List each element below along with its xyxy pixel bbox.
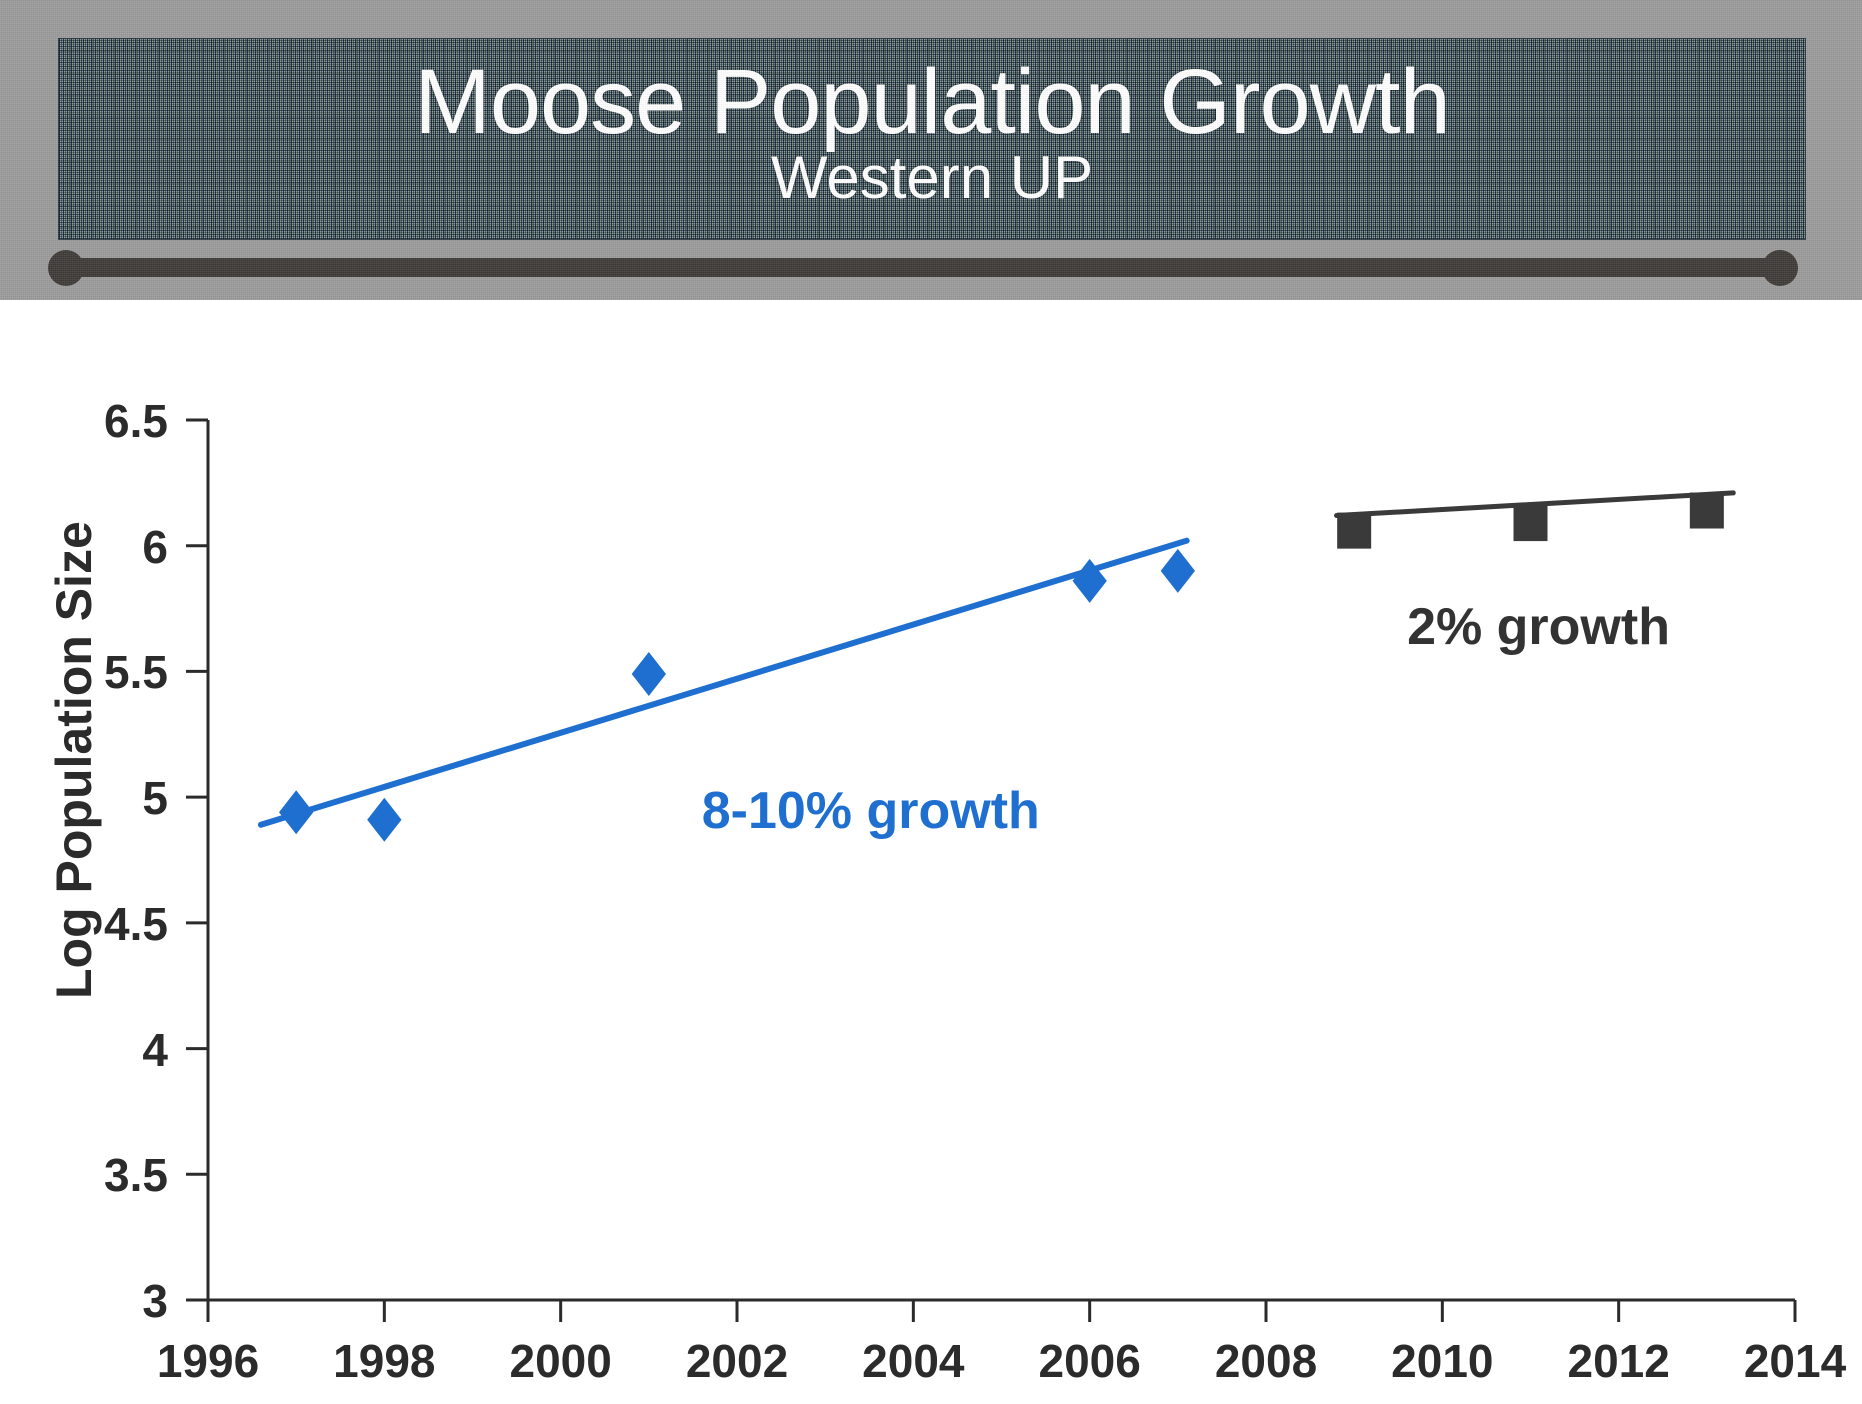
- plot-canvas: [0, 300, 1862, 1404]
- x-tick-label: 2008: [1176, 1334, 1356, 1388]
- x-tick-label: 1998: [294, 1334, 474, 1388]
- data-point-diamond: [1161, 549, 1195, 593]
- data-point-diamond: [279, 790, 313, 834]
- chart-figure: Log Population Size 33.544.555.566.51996…: [0, 300, 1862, 1404]
- page-subtitle: Western UP: [771, 146, 1093, 209]
- page-title: Moose Population Growth: [414, 55, 1450, 150]
- x-tick-label: 2010: [1352, 1334, 1532, 1388]
- slide-header-band: Moose Population Growth Western UP: [0, 0, 1862, 300]
- banner-text-block: Moose Population Growth Western UP: [59, 39, 1805, 239]
- dumbbell-bar: [66, 258, 1780, 277]
- x-tick-label: 2006: [1000, 1334, 1180, 1388]
- data-point-square: [1514, 505, 1548, 541]
- x-axis-ticks: [208, 1300, 1795, 1322]
- x-tick-label: 2000: [471, 1334, 651, 1388]
- y-tick-label: 3.5: [0, 1148, 168, 1202]
- title-banner: Moose Population Growth Western UP: [58, 38, 1806, 240]
- data-point-diamond: [632, 652, 666, 696]
- x-tick-label: 1996: [118, 1334, 298, 1388]
- data-point-diamond: [367, 798, 401, 842]
- decorative-dumbbell-rule: [40, 248, 1806, 288]
- x-tick-label: 2014: [1705, 1334, 1862, 1388]
- x-tick-label: 2012: [1529, 1334, 1709, 1388]
- y-tick-label: 5.5: [0, 645, 168, 699]
- data-point-square: [1690, 493, 1724, 529]
- y-axis-ticks: [186, 420, 208, 1300]
- y-tick-label: 6: [0, 520, 168, 574]
- y-tick-label: 3: [0, 1274, 168, 1328]
- x-tick-label: 2002: [647, 1334, 827, 1388]
- y-tick-label: 4.5: [0, 897, 168, 951]
- y-tick-label: 4: [0, 1023, 168, 1077]
- data-point-square: [1337, 513, 1371, 549]
- series-trendlines: [261, 493, 1733, 825]
- annotation-blue-growth: 8-10% growth: [702, 781, 1040, 841]
- x-tick-label: 2004: [823, 1334, 1003, 1388]
- y-tick-label: 6.5: [0, 394, 168, 448]
- dumbbell-right-knob: [1762, 250, 1798, 286]
- annotation-black-growth: 2% growth: [1407, 597, 1670, 657]
- y-tick-label: 5: [0, 771, 168, 825]
